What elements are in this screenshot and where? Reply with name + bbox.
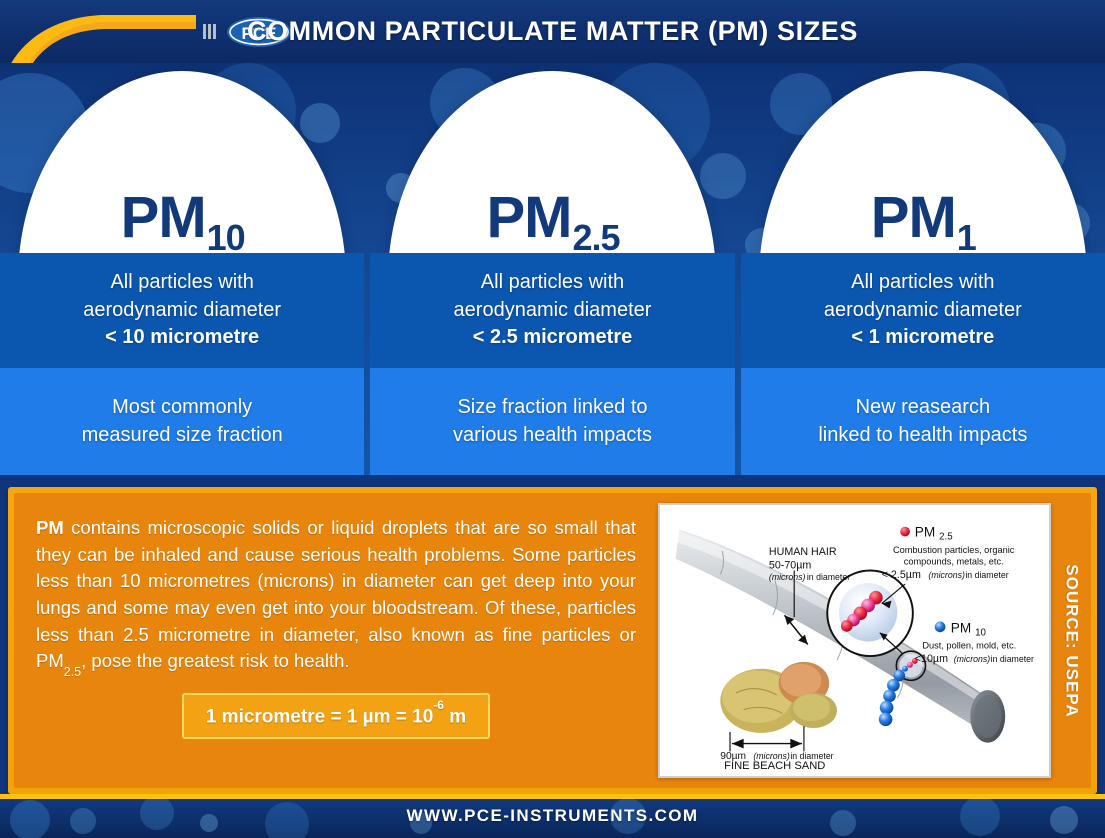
svg-text:< 2.5µm: < 2.5µm — [882, 569, 921, 581]
pm-card-dome: PM1 — [741, 63, 1105, 253]
pm-card-dome: PM2.5 — [370, 63, 734, 253]
definition-line-2: aerodynamic diameter — [454, 297, 652, 325]
page-title: COMMON PARTICULATE MATTER (PM) SIZES — [0, 0, 1105, 63]
svg-text:in diameter: in diameter — [807, 572, 850, 582]
definition-line-1: All particles with — [110, 269, 253, 297]
micrometre-formula-box: 1 micrometre = 1 µm = 10-6 m — [182, 693, 490, 739]
pm-card-note: Size fraction linked to various health i… — [370, 368, 734, 475]
definition-line-1: All particles with — [851, 269, 994, 297]
pm-label-sub: 2.5 — [572, 220, 619, 253]
definition-line-2: aerodynamic diameter — [83, 297, 281, 325]
svg-text:in diameter: in diameter — [991, 654, 1034, 664]
epa-image-column: PM 2.5 Combustion particles, organic com… — [658, 493, 1091, 788]
note-line-2: linked to health impacts — [818, 422, 1027, 450]
svg-text:2.5: 2.5 — [939, 531, 953, 542]
formula-after: m — [444, 706, 466, 727]
pm-label-main: PM — [121, 189, 206, 247]
pm-card-label: PM2.5 — [370, 63, 734, 253]
pm-cards-row: PM10 All particles with aerodynamic diam… — [0, 63, 1105, 475]
definition-line-3: < 10 micrometre — [105, 324, 259, 352]
svg-text:HUMAN HAIR: HUMAN HAIR — [769, 546, 837, 558]
definition-line-2: aerodynamic diameter — [824, 297, 1022, 325]
pm-card-note: Most commonly measured size fraction — [0, 368, 364, 475]
info-text-column: PM contains microscopic solids or liquid… — [14, 493, 658, 788]
infographic-page: PCE Instruments COMMON PARTICULATE MATTE… — [0, 0, 1105, 838]
svg-text:PM: PM — [951, 621, 971, 636]
info-paragraph: PM contains microscopic solids or liquid… — [36, 515, 636, 677]
svg-text:(microns): (microns) — [928, 570, 965, 580]
svg-text:Dust, pollen, mold, etc.: Dust, pollen, mold, etc. — [922, 640, 1016, 650]
note-line-1: Size fraction linked to — [457, 394, 647, 422]
paragraph-part-2: , pose the greatest risk to health. — [81, 650, 349, 671]
pm-label-sub: 1 — [957, 220, 976, 253]
pm-card-note: New reasearch linked to health impacts — [741, 368, 1105, 475]
formula-exponent: -6 — [433, 698, 444, 712]
svg-text:10: 10 — [975, 628, 986, 639]
pm-card-definition: All particles with aerodynamic diameter … — [370, 253, 734, 368]
pm-card: PM2.5 All particles with aerodynamic dia… — [370, 63, 734, 475]
svg-text:(microns): (microns) — [769, 572, 806, 582]
svg-text:(microns): (microns) — [954, 654, 991, 664]
info-panel-inner: PM contains microscopic solids or liquid… — [14, 493, 1091, 788]
pm-card: PM1 All particles with aerodynamic diame… — [741, 63, 1105, 475]
svg-text:FINE BEACH SAND: FINE BEACH SAND — [724, 760, 825, 772]
svg-text:50-70µm: 50-70µm — [769, 560, 811, 572]
source-attribution: SOURCE: USEPA — [1055, 503, 1089, 778]
footer-website[interactable]: WWW.PCE-INSTRUMENTS.COM — [0, 794, 1105, 838]
note-line-1: Most commonly — [112, 394, 252, 422]
pm-card: PM10 All particles with aerodynamic diam… — [0, 63, 364, 475]
pm-label-main: PM — [486, 189, 571, 247]
pm-card-dome: PM10 — [0, 63, 364, 253]
pm-card-label: PM10 — [0, 63, 364, 253]
pm-card-definition: All particles with aerodynamic diameter … — [741, 253, 1105, 368]
svg-text:in diameter: in diameter — [965, 570, 1008, 580]
pm-label-main: PM — [871, 189, 956, 247]
pm-card-definition: All particles with aerodynamic diameter … — [0, 253, 364, 368]
info-panel: PM contains microscopic solids or liquid… — [8, 487, 1097, 794]
paragraph-part-1: contains microscopic solids or liquid dr… — [36, 517, 636, 671]
formula-before: 1 micrometre = 1 µm = 10 — [206, 706, 433, 727]
definition-line-3: < 2.5 micrometre — [473, 324, 633, 352]
note-line-1: New reasearch — [856, 394, 991, 422]
header-bar: PCE Instruments COMMON PARTICULATE MATTE… — [0, 0, 1105, 63]
svg-text:PM: PM — [915, 524, 935, 539]
epa-particle-size-diagram: PM 2.5 Combustion particles, organic com… — [660, 505, 1049, 776]
svg-text:Combustion particles, organic: Combustion particles, organic — [893, 545, 1015, 555]
definition-line-3: < 1 micrometre — [851, 324, 994, 352]
note-line-2: various health impacts — [453, 422, 652, 450]
svg-text:<10µm: <10µm — [915, 653, 948, 665]
source-label-text: SOURCE: USEPA — [1062, 564, 1082, 717]
paragraph-lead: PM — [36, 517, 64, 538]
note-line-2: measured size fraction — [82, 422, 283, 450]
svg-text:compounds, metals, etc.: compounds, metals, etc. — [904, 557, 1004, 567]
paragraph-subscript: 2.5 — [64, 665, 81, 679]
epa-diagram-frame: PM 2.5 Combustion particles, organic com… — [658, 503, 1051, 778]
formula-row: 1 micrometre = 1 µm = 10-6 m — [36, 693, 636, 739]
pm-card-label: PM1 — [741, 63, 1105, 253]
pm-label-sub: 10 — [207, 220, 245, 253]
definition-line-1: All particles with — [481, 269, 624, 297]
